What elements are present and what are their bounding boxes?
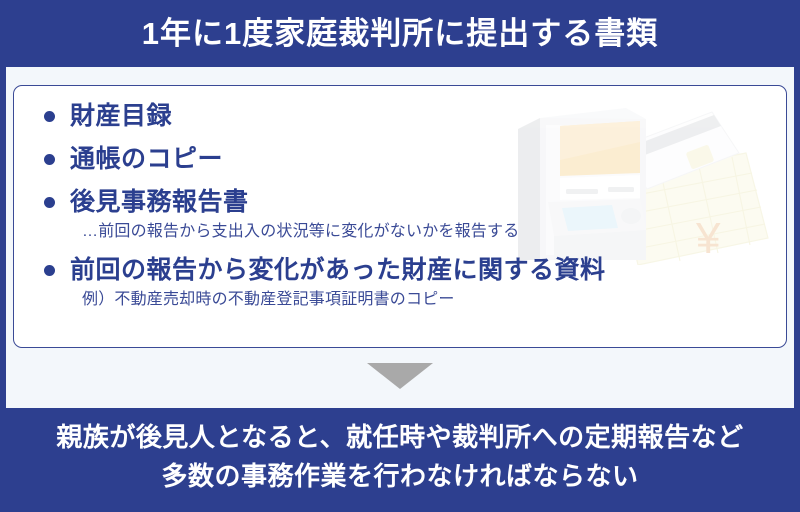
- bullet-icon: [44, 197, 55, 208]
- documents-card: ¥: [13, 85, 787, 348]
- footer-line-2: 多数の事務作業を行わなければならない: [161, 457, 638, 496]
- bullet-icon: [44, 265, 55, 276]
- list-item: 後見事務報告書 …前回の報告から支出入の状況等に変化がないかを報告する: [40, 186, 786, 244]
- list-item: 前回の報告から変化があった財産に関する資料 例）不動産売却時の不動産登記事項証明…: [40, 254, 786, 312]
- content-panel: ¥: [6, 67, 794, 408]
- list-item: 財産目録: [40, 100, 786, 133]
- list-item: 通帳のコピー: [40, 143, 786, 176]
- documents-list: 財産目録 通帳のコピー 後見事務報告書 …前回の報告から支出入の状況等に変化がな…: [14, 86, 786, 312]
- header-bar: 1年に1度家庭裁判所に提出する書類: [0, 0, 800, 67]
- list-item-label: 通帳のコピー: [70, 143, 786, 176]
- list-item-note: …前回の報告から支出入の状況等に変化がないかを報告する: [70, 220, 786, 244]
- list-item-label: 前回の報告から変化があった財産に関する資料: [70, 254, 786, 287]
- bullet-icon: [44, 154, 55, 165]
- list-item-label: 財産目録: [70, 100, 786, 133]
- list-item-note: 例）不動産売却時の不動産登記事項証明書のコピー: [70, 288, 786, 312]
- down-arrow-icon: [367, 363, 433, 389]
- footer-line-1: 親族が後見人となると、就任時や裁判所への定期報告など: [56, 418, 743, 457]
- infographic-root: 1年に1度家庭裁判所に提出する書類: [0, 0, 800, 512]
- list-item-label: 後見事務報告書: [70, 186, 786, 219]
- footer-bar: 親族が後見人となると、就任時や裁判所への定期報告など 多数の事務作業を行わなけれ…: [0, 408, 800, 512]
- bullet-icon: [44, 111, 55, 122]
- page-title: 1年に1度家庭裁判所に提出する書類: [142, 18, 658, 49]
- arrow-container: [367, 348, 433, 408]
